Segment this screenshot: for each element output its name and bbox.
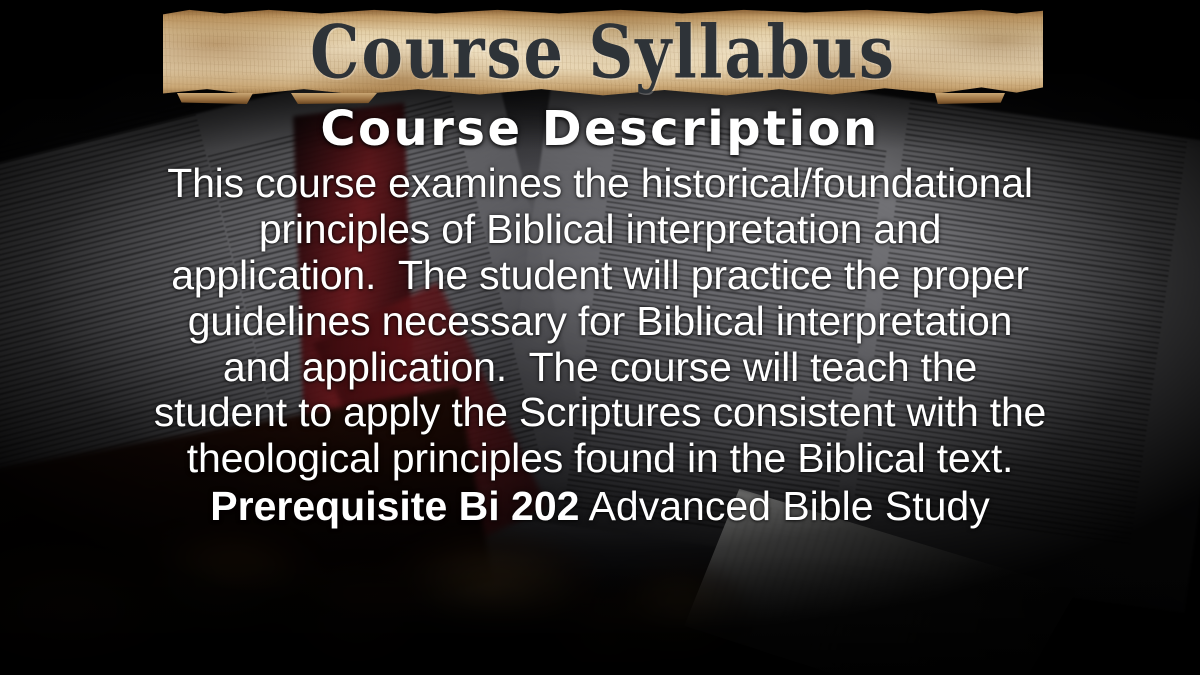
prerequisite-course-name: Advanced Bible Study: [579, 483, 989, 529]
title-banner: Course Syllabus: [163, 9, 1043, 98]
bottom-fade-overlay: [0, 555, 1200, 675]
slide-content: Course Description This course examines …: [0, 104, 1200, 530]
syllabus-slide: Course Syllabus Course Description This …: [0, 0, 1200, 675]
prerequisite-line: Prerequisite Bi 202 Advanced Bible Study: [0, 484, 1200, 530]
banner-title-text: Course Syllabus: [163, 1, 1043, 106]
prerequisite-label: Prerequisite Bi 202: [210, 483, 579, 529]
page-title: Course Description: [0, 104, 1200, 155]
course-description-paragraph: This course examines the historical/foun…: [0, 161, 1200, 482]
